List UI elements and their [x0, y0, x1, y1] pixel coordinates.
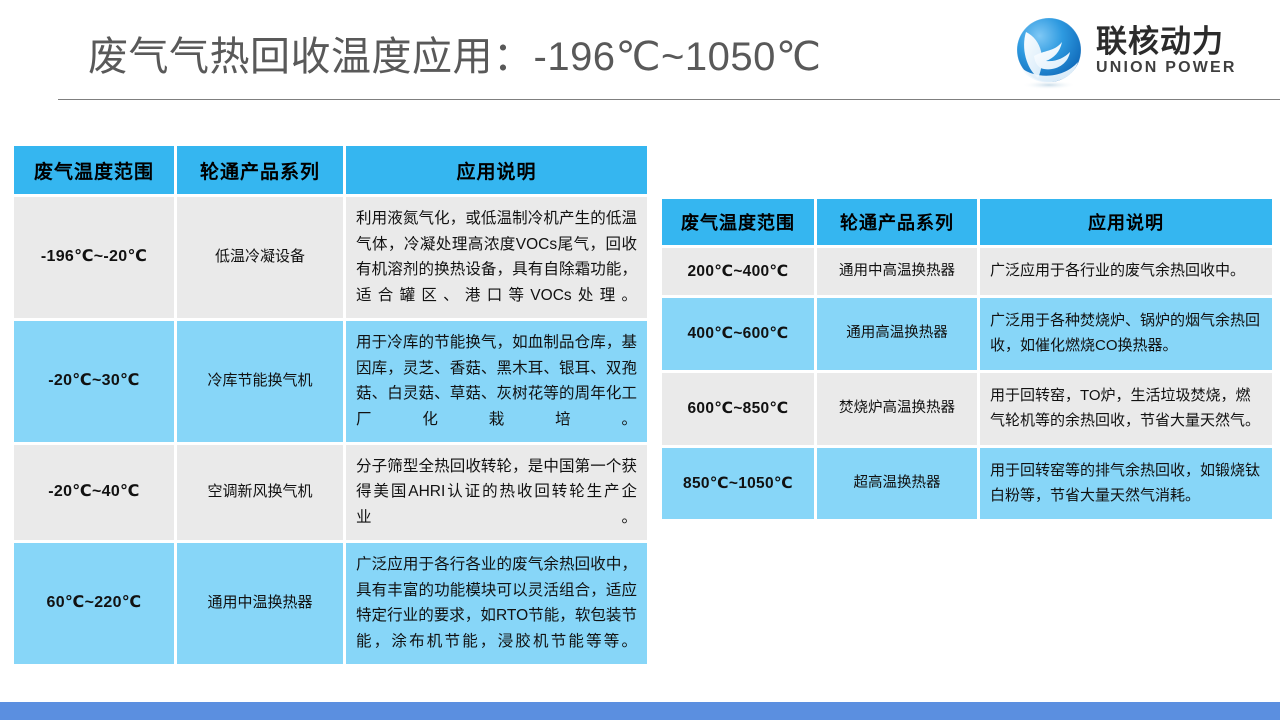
- table-header-row: 废气温度范围 轮通产品系列 应用说明: [662, 199, 1272, 245]
- cell-range: -20℃~30℃: [14, 321, 174, 442]
- cell-range: 200℃~400℃: [662, 248, 814, 295]
- union-power-globe-icon: [1012, 16, 1086, 90]
- logo-name-en: UNION POWER: [1096, 58, 1237, 78]
- cell-range: 60℃~220℃: [14, 543, 174, 664]
- cell-series: 空调新风换气机: [177, 445, 343, 540]
- column-header-range: 废气温度范围: [14, 146, 174, 194]
- table-row: 400℃~600℃ 通用高温换热器 广泛用于各种焚烧炉、锅炉的烟气余热回收，如催…: [662, 298, 1272, 370]
- footer-bar: [0, 702, 1280, 720]
- page-title: 废气气热回收温度应用：-196℃~1050℃: [88, 22, 1018, 84]
- cell-series: 通用中高温换热器: [817, 248, 977, 295]
- cell-description: 利用液氮气化，或低温制冷机产生的低温气体，冷凝处理高浓度VOCs尾气，回收有机溶…: [346, 197, 647, 318]
- cell-series: 低温冷凝设备: [177, 197, 343, 318]
- cell-series: 通用中温换热器: [177, 543, 343, 664]
- low-temperature-table: 废气温度范围 轮通产品系列 应用说明 -196℃~-20℃ 低温冷凝设备 利用液…: [11, 143, 650, 667]
- cell-range: 600℃~850℃: [662, 373, 814, 445]
- column-header-range: 废气温度范围: [662, 199, 814, 245]
- cell-description: 用于冷库的节能换气，如血制品仓库，基因库，灵芝、香菇、黑木耳、银耳、双孢菇、白灵…: [346, 321, 647, 442]
- table-row: -20℃~30℃ 冷库节能换气机 用于冷库的节能换气，如血制品仓库，基因库，灵芝…: [14, 321, 647, 442]
- table-row: 850℃~1050℃ 超高温换热器 用于回转窑等的排气余热回收，如锻烧钛白粉等，…: [662, 448, 1272, 520]
- cell-description: 用于回转窑，TO炉，生活垃圾焚烧，燃气轮机等的余热回收，节省大量天然气。: [980, 373, 1272, 445]
- logo-name-cn: 联核动力: [1096, 26, 1237, 59]
- table-row: -196℃~-20℃ 低温冷凝设备 利用液氮气化，或低温制冷机产生的低温气体，冷…: [14, 197, 647, 318]
- cell-series: 焚烧炉高温换热器: [817, 373, 977, 445]
- cell-range: -196℃~-20℃: [14, 197, 174, 318]
- cell-description: 广泛应用于各行业的废气余热回收中。: [980, 248, 1272, 295]
- cell-description: 广泛应用于各行各业的废气余热回收中，具有丰富的功能模块可以灵活组合，适应特定行业…: [346, 543, 647, 664]
- column-header-series: 轮通产品系列: [817, 199, 977, 245]
- cell-description: 用于回转窑等的排气余热回收，如锻烧钛白粉等，节省大量天然气消耗。: [980, 448, 1272, 520]
- cell-description: 广泛用于各种焚烧炉、锅炉的烟气余热回收，如催化燃烧CO换热器。: [980, 298, 1272, 370]
- slide-page: 废气气热回收温度应用：-196℃~1050℃: [0, 0, 1280, 720]
- company-logo: 联核动力 UNION POWER: [1012, 14, 1274, 92]
- cell-description: 分子筛型全热回收转轮，是中国第一个获得美国AHRI认证的热收回转轮生产企业。: [346, 445, 647, 540]
- table-row: 200℃~400℃ 通用中高温换热器 广泛应用于各行业的废气余热回收中。: [662, 248, 1272, 295]
- cell-range: 400℃~600℃: [662, 298, 814, 370]
- table-row: -20℃~40℃ 空调新风换气机 分子筛型全热回收转轮，是中国第一个获得美国AH…: [14, 445, 647, 540]
- logo-wordmark: 联核动力 UNION POWER: [1096, 26, 1237, 81]
- column-header-desc: 应用说明: [346, 146, 647, 194]
- cell-series: 冷库节能换气机: [177, 321, 343, 442]
- column-header-desc: 应用说明: [980, 199, 1272, 245]
- table-row: 600℃~850℃ 焚烧炉高温换热器 用于回转窑，TO炉，生活垃圾焚烧，燃气轮机…: [662, 373, 1272, 445]
- cell-range: -20℃~40℃: [14, 445, 174, 540]
- table-row: 60℃~220℃ 通用中温换热器 广泛应用于各行各业的废气余热回收中，具有丰富的…: [14, 543, 647, 664]
- cell-series: 超高温换热器: [817, 448, 977, 520]
- title-divider: [58, 99, 1280, 100]
- cell-range: 850℃~1050℃: [662, 448, 814, 520]
- high-temperature-table: 废气温度范围 轮通产品系列 应用说明 200℃~400℃ 通用中高温换热器 广泛…: [659, 196, 1275, 522]
- cell-series: 通用高温换热器: [817, 298, 977, 370]
- column-header-series: 轮通产品系列: [177, 146, 343, 194]
- table-header-row: 废气温度范围 轮通产品系列 应用说明: [14, 146, 647, 194]
